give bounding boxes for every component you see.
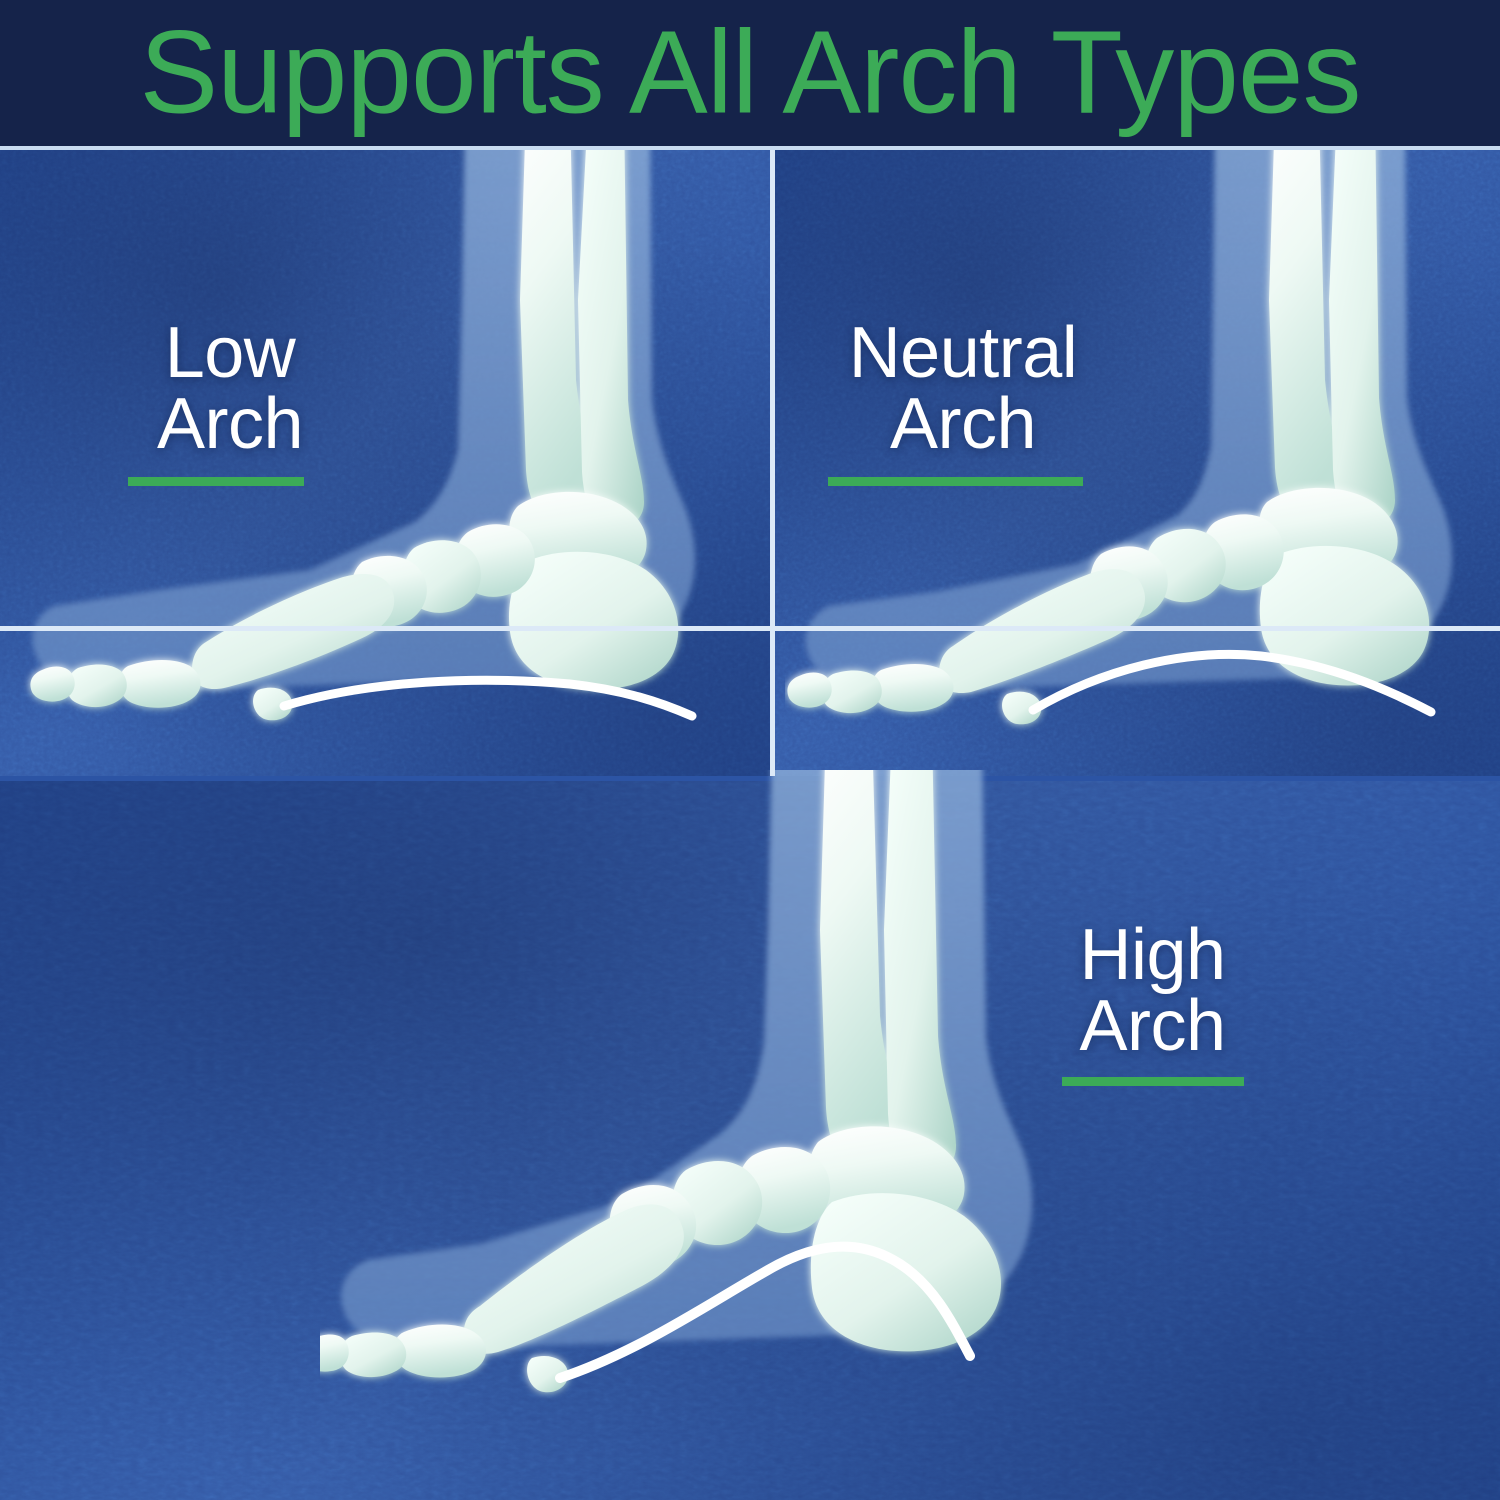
label-high-arch-line1: High: [1060, 920, 1245, 991]
arch-support-line-low: [284, 680, 692, 716]
header-bar: Supports All Arch Types: [0, 0, 1500, 150]
label-underline-neutral-arch: [828, 477, 1083, 486]
label-neutral-arch-line1: Neutral: [838, 318, 1088, 389]
label-underline-high-arch: [1062, 1077, 1244, 1086]
poster-canvas: Supports All Arch Types: [0, 0, 1500, 1500]
foot-illustration-high-arch: [320, 770, 1080, 1410]
divider-horizontal: [0, 626, 1500, 631]
label-low-arch-line2: Arch: [140, 389, 320, 460]
label-low-arch: Low Arch: [140, 318, 320, 459]
label-neutral-arch: Neutral Arch: [838, 318, 1088, 459]
label-high-arch: High Arch: [1060, 920, 1245, 1061]
label-underline-low-arch: [128, 477, 304, 486]
page-title: Supports All Arch Types: [0, 14, 1500, 132]
label-high-arch-line2: Arch: [1060, 991, 1245, 1062]
label-neutral-arch-line2: Arch: [838, 389, 1088, 460]
label-low-arch-line1: Low: [140, 318, 320, 389]
divider-vertical: [770, 150, 775, 776]
foot-illustration-low-arch: [10, 150, 750, 770]
